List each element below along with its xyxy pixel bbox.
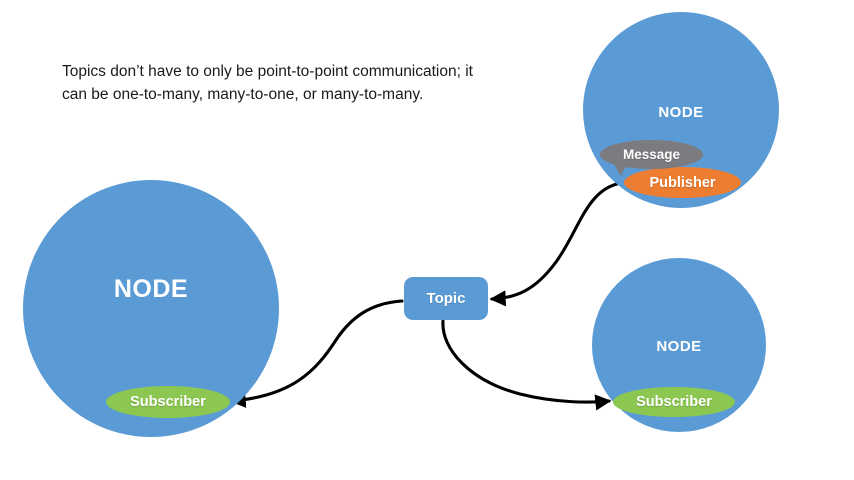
publisher-pill[interactable]: Publisher: [624, 167, 741, 198]
message-bubble-tail: [613, 161, 629, 176]
subscriber-pill-left[interactable]: Subscriber: [106, 386, 230, 418]
edge-topic-to-bottomright-subscriber: [443, 321, 609, 402]
message-bubble-label: Message: [623, 147, 680, 162]
topic-box-label: Topic: [427, 290, 466, 307]
message-bubble[interactable]: Message: [600, 140, 703, 169]
subscriber-pill-bottom-right-label: Subscriber: [636, 394, 712, 410]
node-left-label: NODE: [23, 275, 279, 304]
diagram-slide: Topics don’t have to only be point-to-po…: [0, 0, 854, 480]
edge-publisher-to-topic: [492, 184, 617, 299]
node-bottom-right-label: NODE: [592, 338, 766, 355]
topic-box[interactable]: Topic: [404, 277, 488, 320]
caption-text: Topics don’t have to only be point-to-po…: [62, 60, 482, 106]
node-top-right-label: NODE: [583, 104, 779, 121]
subscriber-pill-left-label: Subscriber: [130, 394, 206, 410]
subscriber-pill-bottom-right[interactable]: Subscriber: [613, 387, 735, 417]
publisher-pill-label: Publisher: [649, 175, 715, 191]
